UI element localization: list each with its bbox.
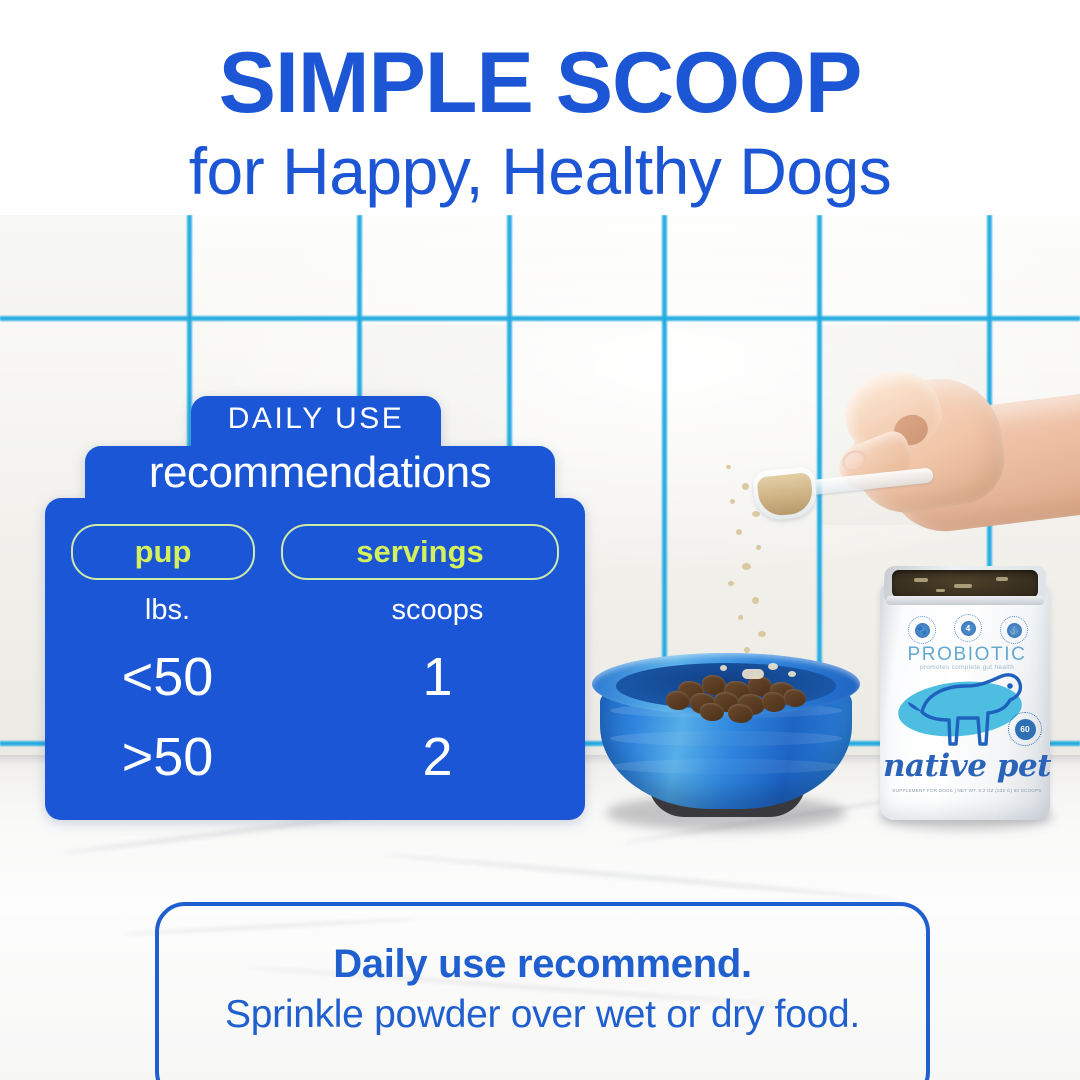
row-scoops: 2 <box>290 726 585 788</box>
pill-pup: pup <box>71 524 255 580</box>
brand-logo: native pet <box>872 748 1062 784</box>
strain-count-value: 4 <box>961 621 976 636</box>
product-title: PROBIOTIC <box>872 644 1062 666</box>
card-title: recommendations <box>85 448 555 498</box>
infographic-canvas: 🐾 4 ⚓ PROBIOTIC promotes complete gut he… <box>0 0 1080 1080</box>
tile <box>0 215 190 318</box>
scoop-handle <box>805 467 934 495</box>
headline-block: SIMPLE SCOOP for Happy, Healthy Dogs <box>0 0 1080 207</box>
paw-icon: 🐾 <box>915 623 930 638</box>
column-subheaders: lbs. scoops <box>45 594 585 627</box>
caption-box: Daily use recommend. Sprinkle powder ove… <box>155 902 930 1080</box>
row-weight: >50 <box>45 726 290 788</box>
quality-mark: ⚓ <box>1007 623 1022 638</box>
headline-secondary: for Happy, Healthy Dogs <box>0 136 1080 207</box>
subheader-lbs: lbs. <box>45 594 290 627</box>
tin-opening <box>892 570 1038 598</box>
table-row: >50 2 <box>45 726 585 788</box>
quality-seal-icon: ⚓ <box>1000 616 1028 644</box>
headline-primary: SIMPLE SCOOP <box>0 40 1080 128</box>
product-tin: 🐾 4 ⚓ PROBIOTIC promotes complete gut he… <box>872 560 1062 828</box>
tin-lip <box>886 596 1044 605</box>
caption-line-1: Daily use recommend. <box>333 942 752 987</box>
strain-count-seal-icon: 4 <box>954 614 982 642</box>
row-weight: <50 <box>45 646 290 708</box>
table-row: <50 1 <box>45 646 585 708</box>
subheader-scoops: scoops <box>290 594 585 627</box>
dog-bowl <box>592 645 860 835</box>
pill-servings: servings <box>281 524 559 580</box>
scoop-count-badge: 60 <box>1008 712 1042 746</box>
column-header-pills: pup servings <box>45 524 585 580</box>
product-fine-print: SUPPLEMENT FOR DOGS | NET WT. 8.2 OZ (23… <box>872 788 1062 793</box>
row-scoops: 1 <box>290 646 585 708</box>
caption-line-2: Sprinkle powder over wet or dry food. <box>225 993 860 1037</box>
card-eyebrow: DAILY USE <box>191 402 441 436</box>
grout-line-horizontal <box>0 315 1080 322</box>
paw-seal-icon: 🐾 <box>908 616 936 644</box>
daily-use-card: DAILY USE recommendations pup servings l… <box>45 396 585 820</box>
scoop-count-value: 60 <box>1015 719 1036 740</box>
